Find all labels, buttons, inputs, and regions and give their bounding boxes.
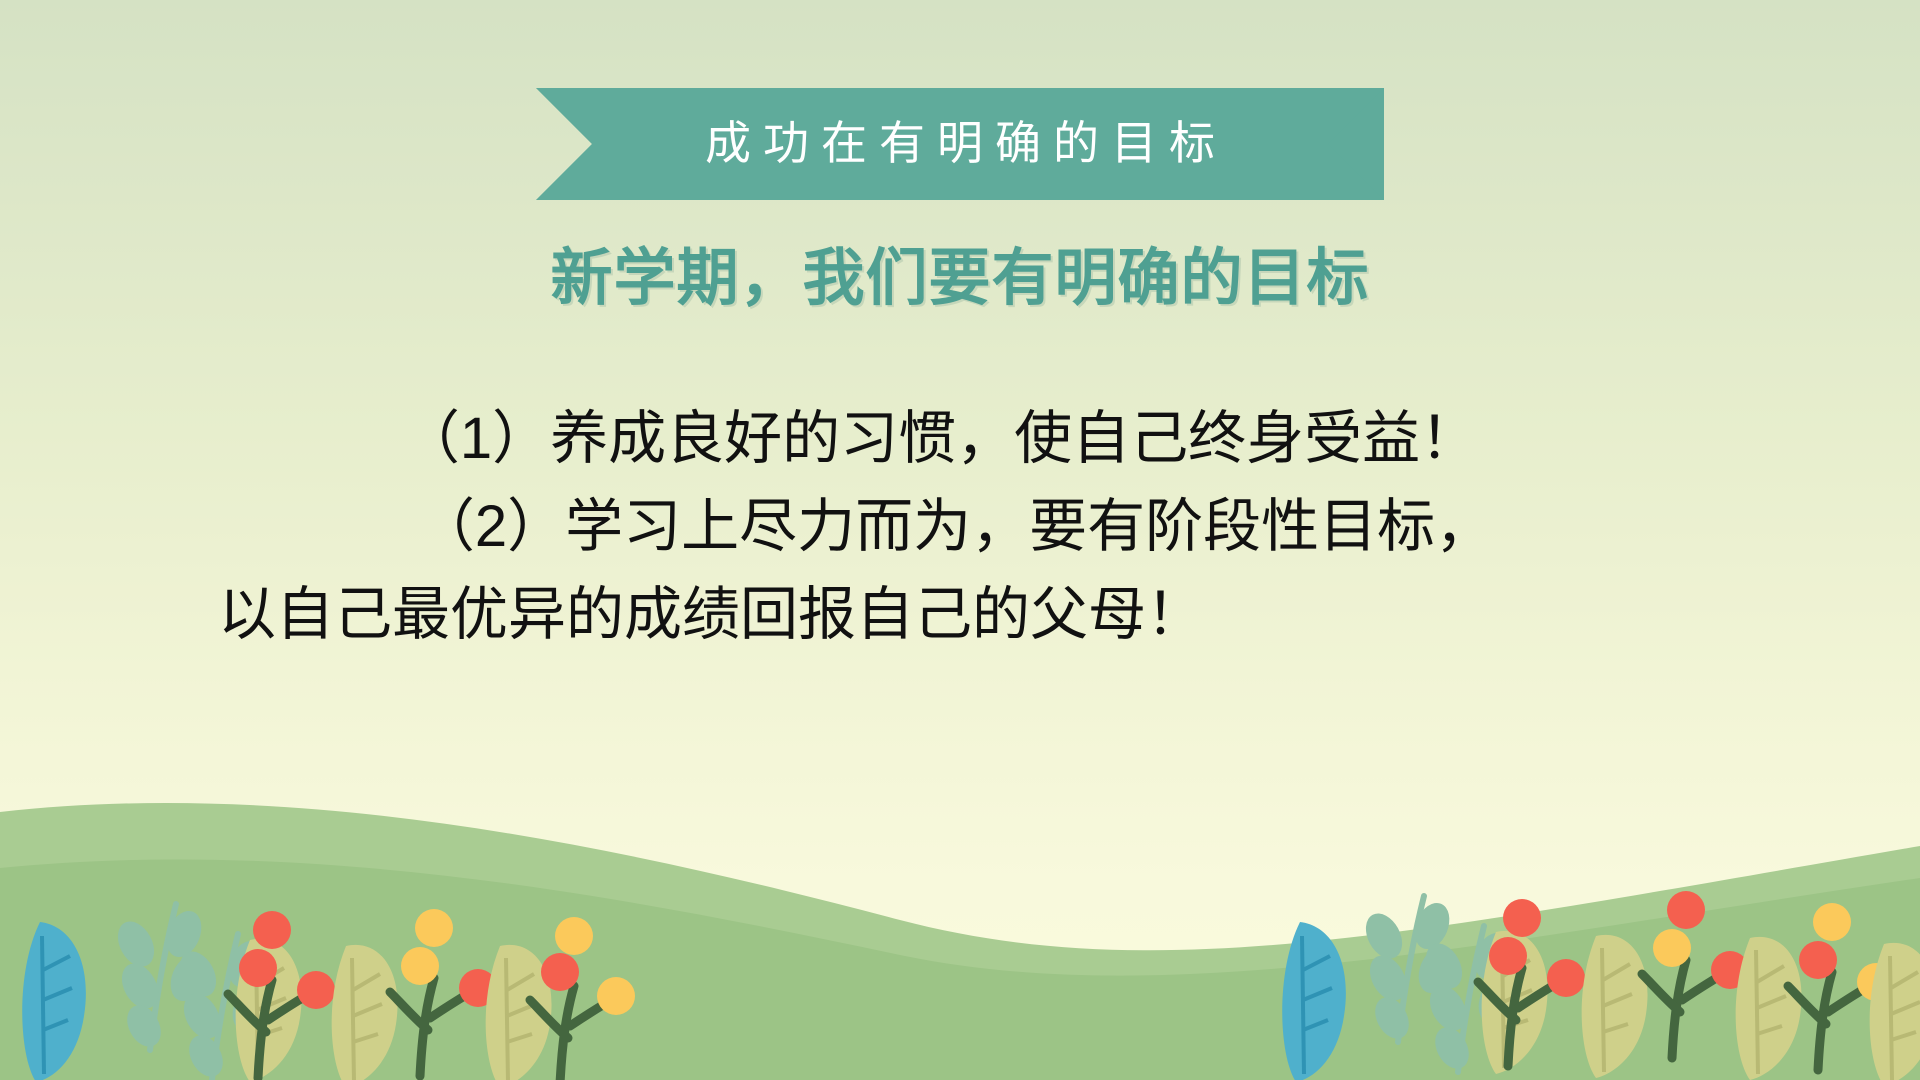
body-line-2: （2）学习上尽力而为，要有阶段性目标， [0,483,1920,571]
banner-container: 成功在有明确的目标 [0,88,1920,200]
background-illustration [0,750,1920,1080]
page-title: 新学期，我们要有明确的目标 [0,245,1920,313]
ribbon-banner-shape: 成功在有明确的目标 [536,88,1384,200]
body-line-3: 以自己最优异的成绩回报自己的父母！ [0,571,1920,659]
body-line-1: （1）养成良好的习惯，使自己终身受益！ [0,395,1920,483]
ribbon-banner: 成功在有明确的目标 [536,88,1384,200]
banner-title: 成功在有明确的目标 [693,121,1227,167]
body-text: （1）养成良好的习惯，使自己终身受益！ （2）学习上尽力而为，要有阶段性目标， … [0,395,1920,659]
